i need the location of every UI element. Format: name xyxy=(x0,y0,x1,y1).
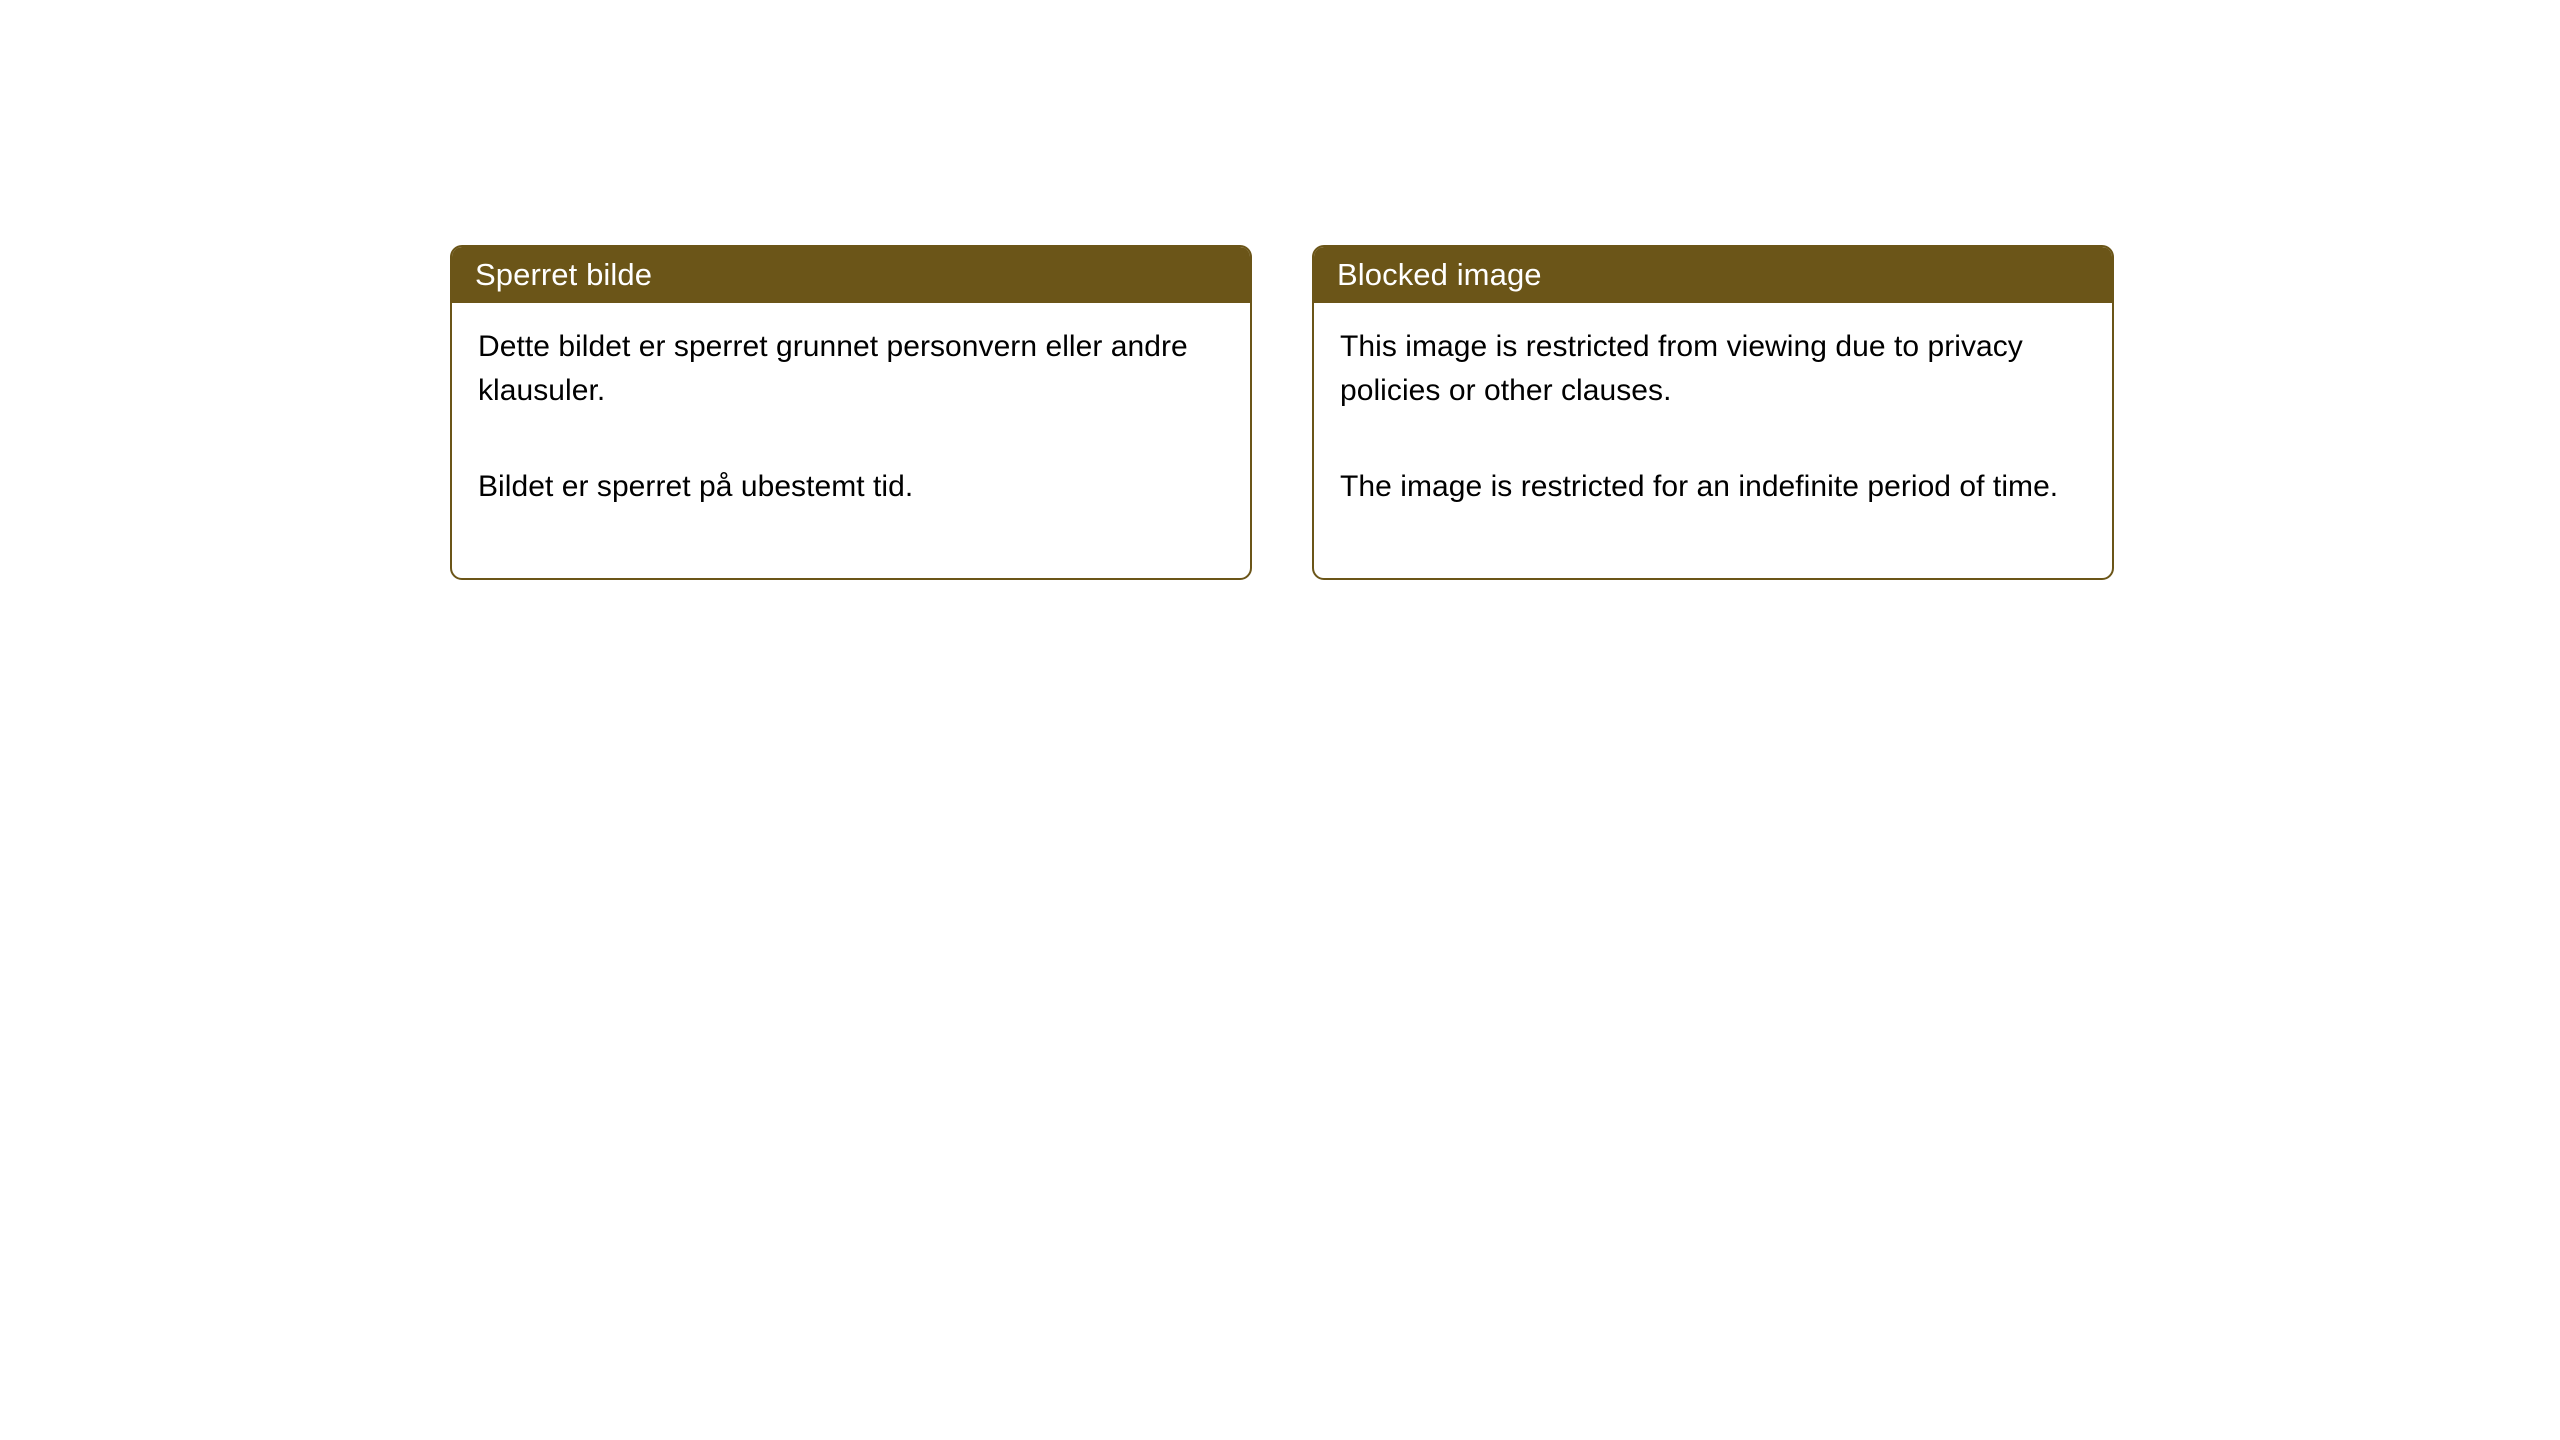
card-message-primary-english: This image is restricted from viewing du… xyxy=(1340,325,2086,413)
card-message-secondary-norwegian: Bildet er sperret på ubestemt tid. xyxy=(478,465,1224,509)
card-header-english: Blocked image xyxy=(1314,247,2112,303)
card-title-english: Blocked image xyxy=(1337,257,1542,293)
card-message-secondary-english: The image is restricted for an indefinit… xyxy=(1340,465,2086,509)
blocked-image-card-norwegian: Sperret bilde Dette bildet er sperret gr… xyxy=(450,245,1252,580)
blocked-image-card-english: Blocked image This image is restricted f… xyxy=(1312,245,2114,580)
page-canvas: Sperret bilde Dette bildet er sperret gr… xyxy=(0,0,2560,1440)
card-message-primary-norwegian: Dette bildet er sperret grunnet personve… xyxy=(478,325,1224,413)
paragraph-spacer xyxy=(478,413,1224,465)
paragraph-spacer xyxy=(1340,413,2086,465)
card-header-norwegian: Sperret bilde xyxy=(452,247,1250,303)
card-title-norwegian: Sperret bilde xyxy=(475,257,652,293)
card-body-english: This image is restricted from viewing du… xyxy=(1314,303,2112,509)
card-body-norwegian: Dette bildet er sperret grunnet personve… xyxy=(452,303,1250,509)
